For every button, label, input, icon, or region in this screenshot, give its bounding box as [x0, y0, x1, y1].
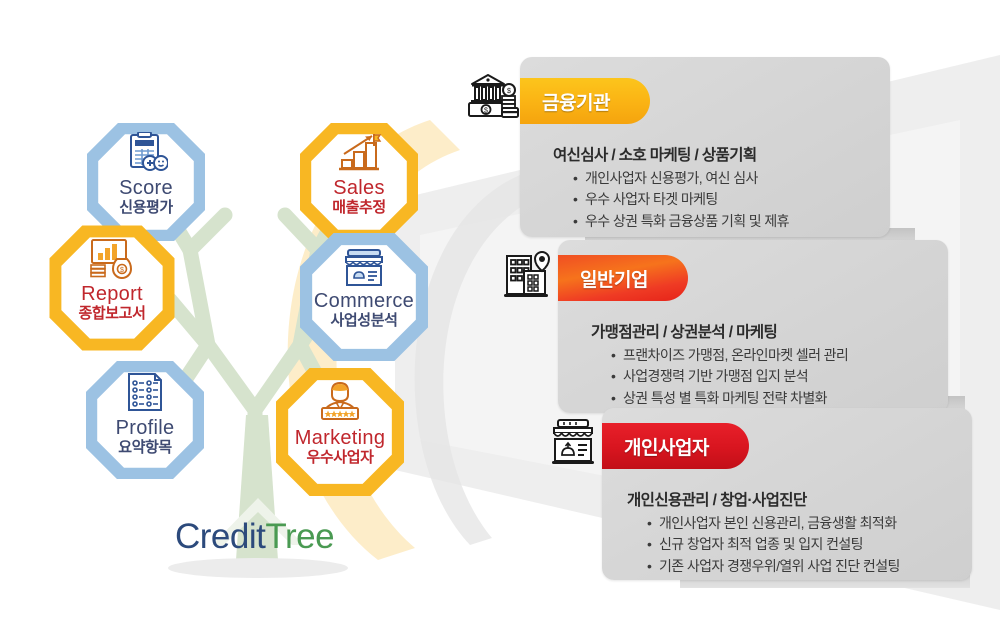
card-1-tab[interactable]: 금융기관 [520, 78, 650, 124]
tree-node-score-ko: 신용평가 [119, 200, 173, 216]
svg-text:$: $ [507, 88, 511, 95]
tree-node-marketing-ko: 우수사업자 [295, 450, 386, 466]
card-general-enterprise[interactable]: 일반기업 가맹점관리 / 상권분석 / 마케팅 프랜차이즈 가맹점, 온라인마켓… [558, 240, 948, 413]
tree-node-commerce-text: Commerce 사업성분석 [314, 291, 414, 329]
tree-node-report-text: Report 종합보고서 [78, 284, 145, 322]
card-3-bullet-1: 개인사업자 본인 신용관리, 금융생활 최적화 [647, 513, 900, 534]
card-1-bullets: 개인사업자 신용평가, 여신 심사 우수 사업자 타겟 마케팅 우수 상권 특화… [573, 168, 789, 232]
card-1-bullet-3: 우수 상권 특화 금융상품 기획 및 제휴 [573, 211, 789, 232]
tree-node-commerce-ko: 사업성분석 [314, 313, 414, 329]
tree-node-sales-en: Sales [332, 178, 386, 199]
credit-tree-logo: CreditTree [175, 517, 334, 557]
tree-node-sales-text: Sales 매출추정 [332, 178, 386, 216]
card-3-bullet-2: 신규 창업자 최적 업종 및 입지 컨설팅 [647, 534, 900, 555]
infographic-canvas: Score 신용평가 Sales [0, 0, 1000, 629]
card-2-bullet-3: 상권 특성 별 특화 마케팅 전략 차별화 [611, 388, 848, 409]
card-2-heading: 가맹점관리 / 상권분석 / 마케팅 [591, 320, 777, 342]
card-2-bullet-1: 프랜차이즈 가맹점, 온라인마켓 셀러 관리 [611, 345, 848, 366]
tree-node-report-en: Report [78, 284, 145, 305]
logo-text-credit: Credit [175, 517, 265, 556]
tree-node-marketing-text: Marketing 우수사업자 [295, 428, 386, 466]
tree-node-profile-en: Profile [116, 418, 175, 439]
tree-node-score-text: Score 신용평가 [119, 178, 173, 216]
logo-text-tree: Tree [265, 517, 334, 556]
tree-node-profile-text: Profile 요약항목 [116, 418, 175, 456]
shop-stall-icon [550, 418, 602, 466]
card-2-bullet-2: 사업경쟁력 기반 가맹점 입지 분석 [611, 366, 848, 387]
card-1-bullet-1: 개인사업자 신용평가, 여신 심사 [573, 168, 789, 189]
card-3-tab[interactable]: 개인사업자 [602, 423, 749, 469]
tree-node-profile-ko: 요약항목 [116, 440, 175, 456]
card-financial-institution[interactable]: 금융기관 여신심사 / 소호 마케팅 / 상품기획 개인사업자 신용평가, 여신… [520, 57, 890, 237]
bank-money-icon: $ $ [466, 72, 520, 122]
card-2-tab[interactable]: 일반기업 [558, 255, 688, 301]
svg-text:$: $ [484, 108, 488, 115]
card-1-heading: 여신심사 / 소호 마케팅 / 상품기획 [553, 143, 757, 165]
card-2-tab-label: 일반기업 [580, 265, 648, 292]
tree-node-commerce-en: Commerce [314, 291, 414, 312]
tree-node-sales-ko: 매출추정 [332, 200, 386, 216]
office-buildings-pin-icon [502, 250, 554, 300]
card-3-heading: 개인신용관리 / 창업·사업진단 [627, 488, 807, 510]
tree-node-score-en: Score [119, 178, 173, 199]
card-individual-business[interactable]: 개인사업자 개인신용관리 / 창업·사업진단 개인사업자 본인 신용관리, 금융… [602, 408, 972, 580]
card-3-bullet-3: 기존 사업자 경쟁우위/열위 사업 진단 컨설팅 [647, 556, 900, 577]
tree-node-report-ko: 종합보고서 [78, 306, 145, 322]
card-3-tab-label: 개인사업자 [624, 433, 709, 460]
card-1-tab-label: 금융기관 [542, 88, 610, 115]
credit-tree-graphic: Score 신용평가 Sales [0, 0, 520, 629]
card-1-bullet-2: 우수 사업자 타겟 마케팅 [573, 189, 789, 210]
card-2-bullets: 프랜차이즈 가맹점, 온라인마켓 셀러 관리 사업경쟁력 기반 가맹점 입지 분… [611, 345, 848, 409]
tree-node-marketing-en: Marketing [295, 428, 386, 449]
card-3-bullets: 개인사업자 본인 신용관리, 금융생활 최적화 신규 창업자 최적 업종 및 입… [647, 513, 900, 577]
